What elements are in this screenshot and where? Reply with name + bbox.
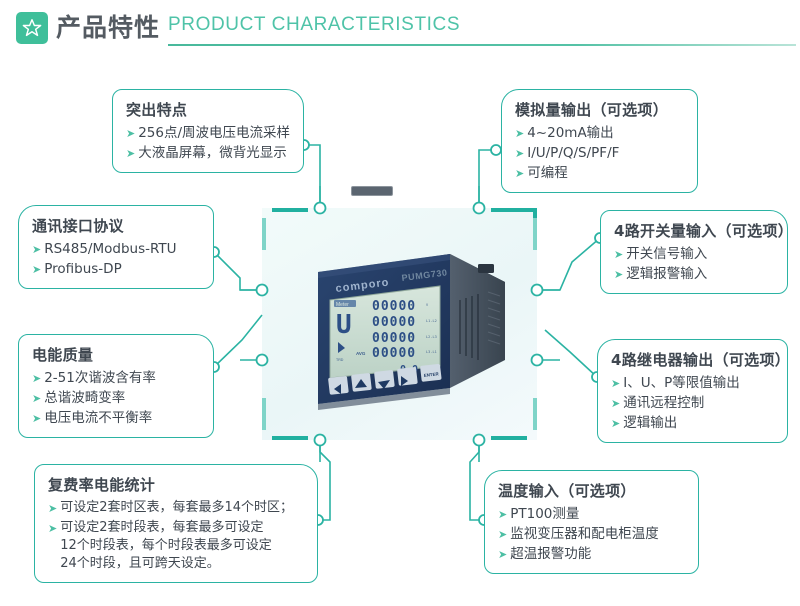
callout-item: ➤ 超温报警功能 <box>498 545 686 564</box>
callout-power-quality[interactable]: 电能质量 ➤ 2-51次谐波含有率 ➤ 总谐波畸变率 ➤ 电压电流不平衡率 <box>18 334 214 438</box>
callout-item: ➤ I、U、P等限值输出 <box>611 374 775 393</box>
callout-tariff-energy[interactable]: 复费率电能统计 ➤ 可设定2套时区表，每套最多14个时区； ➤ 可设定2套时段表… <box>34 464 318 583</box>
callout-item: ➤ 逻辑输出 <box>611 414 775 433</box>
callout-relay-output[interactable]: 4路继电器输出（可选项） ➤ I、U、P等限值输出 ➤ 通讯远程控制 ➤ 逻辑输… <box>597 339 788 443</box>
callout-item: ➤ 可编程 <box>515 164 685 183</box>
bullet-arrow-icon: ➤ <box>614 245 623 264</box>
svg-text:L3-L1: L3-L1 <box>426 350 437 354</box>
bullet-arrow-icon: ➤ <box>611 414 620 433</box>
callout-item: ➤ 电压电流不平衡率 <box>32 409 201 428</box>
bullet-arrow-icon: ➤ <box>32 409 41 428</box>
bullet-arrow-icon: ➤ <box>611 374 620 393</box>
callout-item: ➤ RS485/Modbus-RTU <box>32 240 201 259</box>
svg-text:00000: 00000 <box>372 331 416 346</box>
svg-text:AVG: AVG <box>356 351 366 356</box>
product-image-panel-meter: comporo PUMG730 Meter U 00000 00000 0000… <box>300 238 515 418</box>
callout-item: ➤ Profibus-DP <box>32 260 201 279</box>
bullet-arrow-icon: ➤ <box>515 144 524 163</box>
callout-item: ➤ 通讯远程控制 <box>611 394 775 413</box>
callout-item: ➤ 逻辑报警输入 <box>614 265 775 284</box>
bullet-arrow-icon: ➤ <box>48 519 57 538</box>
callout-title: 4路开关量输入（可选项） <box>614 220 775 241</box>
callout-item: ➤ 大液晶屏幕，微背光显示 <box>126 144 291 163</box>
bullet-arrow-icon: ➤ <box>126 144 135 163</box>
bullet-arrow-icon: ➤ <box>32 240 41 259</box>
callout-item: ➤ 2-51次谐波含有率 <box>32 369 201 388</box>
callout-title: 温度输入（可选项） <box>498 480 686 501</box>
callout-digital-input[interactable]: 4路开关量输入（可选项） ➤ 开关信号输入 ➤ 逻辑报警输入 <box>600 210 788 294</box>
bullet-arrow-icon: ➤ <box>32 389 41 408</box>
svg-text:Meter: Meter <box>336 302 349 308</box>
callout-temperature-input[interactable]: 温度输入（可选项） ➤ PT100测量 ➤ 监视变压器和配电柜温度 ➤ 超温报警… <box>484 470 699 574</box>
svg-text:U: U <box>336 310 352 340</box>
connector-node <box>491 145 501 155</box>
page-header: 产品特性 PRODUCT CHARACTERISTICS <box>0 0 800 56</box>
callout-item: ➤ 可设定2套时区表，每套最多14个时区； <box>48 499 305 518</box>
page-title-cn: 产品特性 <box>56 8 160 44</box>
bullet-arrow-icon: ➤ <box>126 124 135 143</box>
svg-text:00000: 00000 <box>372 315 416 330</box>
star-icon <box>16 12 48 44</box>
bullet-arrow-icon: ➤ <box>498 525 507 544</box>
callout-item: ➤ 可设定2套时段表，每套最多可设定 12个时段表，每个时段表最多可设定 24个… <box>48 519 305 573</box>
bullet-arrow-icon: ➤ <box>614 265 623 284</box>
svg-text:TRD: TRD <box>336 358 344 362</box>
bullet-arrow-icon: ➤ <box>32 260 41 279</box>
callout-item: ➤ 监视变压器和配电柜温度 <box>498 525 686 544</box>
bullet-arrow-icon: ➤ <box>32 369 41 388</box>
svg-text:L2-L3: L2-L3 <box>426 335 437 339</box>
header-divider <box>168 44 796 46</box>
svg-text:00000: 00000 <box>372 346 416 361</box>
callout-analog-output[interactable]: 模拟量输出（可选项） ➤ 4~20mA输出 ➤ I/U/P/Q/S/PF/F ➤… <box>501 89 698 193</box>
callout-highlights[interactable]: 突出特点 ➤ 256点/周波电压电流采样 ➤ 大液晶屏幕，微背光显示 <box>112 89 304 173</box>
callout-title: 4路继电器输出（可选项） <box>611 349 775 370</box>
callout-title: 通讯接口协议 <box>32 215 201 236</box>
callout-item: ➤ 总谐波畸变率 <box>32 389 201 408</box>
callout-item: ➤ I/U/P/Q/S/PF/F <box>515 144 685 163</box>
bullet-arrow-icon: ➤ <box>498 545 507 564</box>
callout-title: 电能质量 <box>32 344 201 365</box>
bullet-arrow-icon: ➤ <box>498 505 507 524</box>
callout-comm-protocol[interactable]: 通讯接口协议 ➤ RS485/Modbus-RTU ➤ Profibus-DP <box>18 205 214 289</box>
callout-item: ➤ PT100测量 <box>498 505 686 524</box>
svg-text:00000: 00000 <box>372 299 416 314</box>
callout-item: ➤ 256点/周波电压电流采样 <box>126 124 291 143</box>
bullet-arrow-icon: ➤ <box>515 124 524 143</box>
callout-title: 复费率电能统计 <box>48 474 305 495</box>
svg-text:L1-L2: L1-L2 <box>426 319 437 323</box>
bullet-arrow-icon: ➤ <box>611 394 620 413</box>
callout-item: ➤ 4~20mA输出 <box>515 124 685 143</box>
decorative-chip <box>351 186 393 196</box>
callout-item: ➤ 开关信号输入 <box>614 245 775 264</box>
callout-title: 模拟量输出（可选项） <box>515 99 685 120</box>
bullet-arrow-icon: ➤ <box>515 164 524 183</box>
bullet-arrow-icon: ➤ <box>48 499 57 518</box>
callout-title: 突出特点 <box>126 99 291 120</box>
page-title-en: PRODUCT CHARACTERISTICS <box>168 14 460 36</box>
